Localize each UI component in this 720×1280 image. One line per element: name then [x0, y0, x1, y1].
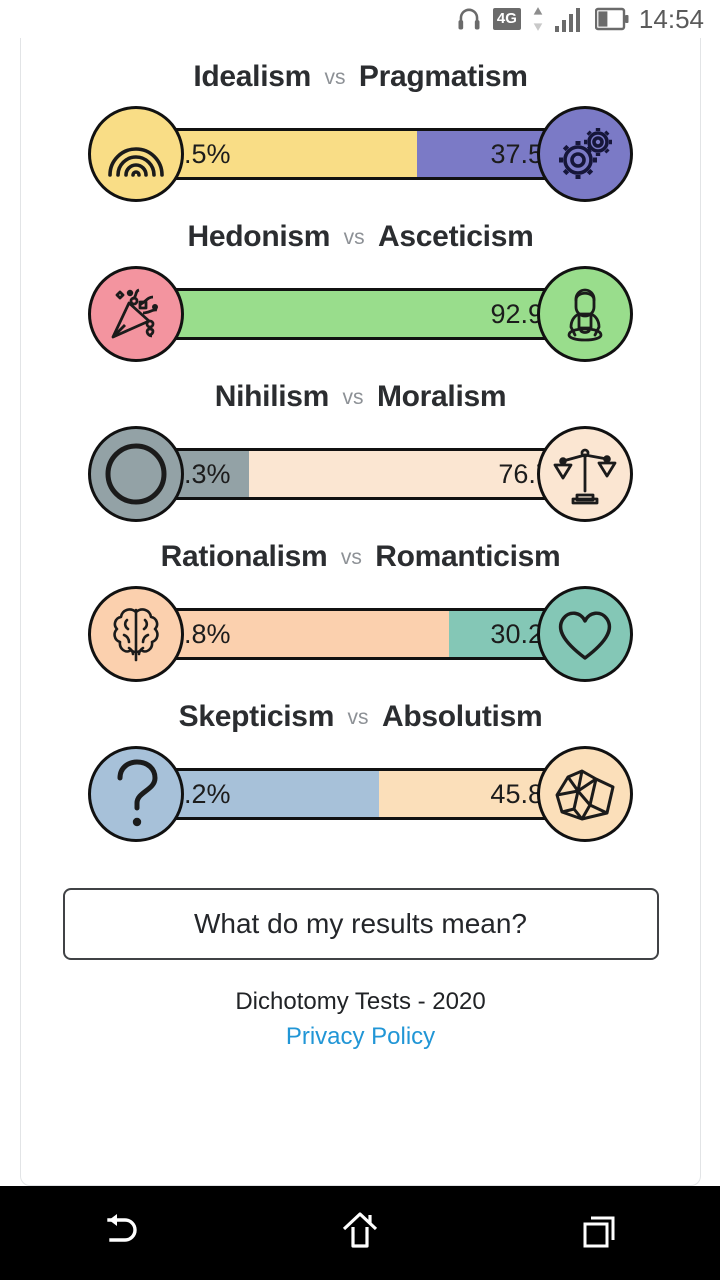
trait-vs-label: vs [333, 386, 372, 409]
scales-icon [553, 443, 617, 505]
recents-button[interactable] [540, 1186, 660, 1280]
trait-row-rationalism-romanticism: Rationalism vs Romanticism 69.8% 30.2% [21, 530, 700, 690]
copyright-text: Dichotomy Tests - 2020 [21, 988, 700, 1016]
trait-bar: 23.3% 76.7% [136, 448, 585, 500]
what-do-my-results-mean-button[interactable]: What do my results mean? [63, 888, 659, 960]
trait-title: Idealism vs Pragmatism [21, 50, 700, 94]
trait-right-icon-circle [537, 266, 633, 362]
headphones-icon [455, 5, 483, 33]
rock-icon [552, 765, 618, 823]
trait-bar: 54.2% 45.8% [136, 768, 585, 820]
trait-bar: 69.8% 30.2% [136, 608, 585, 660]
trait-left-icon-circle [88, 106, 184, 202]
trait-bar-wrap: 23.3% 76.7% [88, 426, 633, 522]
void-circle-icon [99, 437, 173, 511]
trait-bar-wrap: 62.5% 37.5% [88, 106, 633, 202]
android-navigation-bar [0, 1186, 720, 1280]
trait-right-label: Pragmatism [359, 60, 528, 93]
trait-bar-wrap: 54.2% 45.8% [88, 746, 633, 842]
results-card: Idealism vs Pragmatism 62.5% 37.5% [20, 38, 701, 1186]
network-type-label: 4G [493, 8, 521, 30]
trait-vs-label: vs [315, 66, 354, 89]
status-bar: 4G 14:54 [0, 0, 720, 38]
trait-right-icon-circle [537, 426, 633, 522]
trait-left-icon-circle [88, 746, 184, 842]
clock: 14:54 [639, 4, 704, 35]
home-button[interactable] [300, 1186, 420, 1280]
trait-right-label: Absolutism [382, 700, 542, 733]
trait-left-label: Nihilism [215, 380, 329, 413]
rainbow-icon [105, 129, 167, 179]
trait-right-icon-circle [537, 746, 633, 842]
trait-left-icon-circle [88, 266, 184, 362]
party-popper-icon [105, 283, 167, 345]
trait-left-icon-circle [88, 426, 184, 522]
trait-title: Rationalism vs Romanticism [21, 530, 700, 574]
trait-bar-wrap: 7.1% 92.9% [88, 266, 633, 362]
gears-icon [553, 122, 617, 186]
trait-left-label: Rationalism [161, 540, 328, 573]
results-list: Idealism vs Pragmatism 62.5% 37.5% [21, 38, 700, 1051]
trait-bar-wrap: 69.8% 30.2% [88, 586, 633, 682]
trait-vs-label: vs [335, 226, 374, 249]
battery-icon [595, 7, 629, 31]
trait-left-label: Skepticism [179, 700, 334, 733]
trait-row-nihilism-moralism: Nihilism vs Moralism 23.3% 76.7% [21, 370, 700, 530]
privacy-policy-link[interactable]: Privacy Policy [21, 1023, 700, 1051]
trait-right-label: Asceticism [378, 220, 533, 253]
trait-row-idealism-pragmatism: Idealism vs Pragmatism 62.5% 37.5% [21, 50, 700, 210]
trait-vs-label: vs [332, 546, 371, 569]
trait-row-skepticism-absolutism: Skepticism vs Absolutism 54.2% 45.8% [21, 690, 700, 850]
back-icon [97, 1208, 143, 1259]
brain-icon [105, 602, 167, 666]
trait-left-label: Idealism [193, 60, 311, 93]
trait-right-label: Moralism [377, 380, 506, 413]
question-mark-icon [112, 759, 160, 829]
trait-right-icon-circle [537, 106, 633, 202]
trait-left-icon-circle [88, 586, 184, 682]
signal-bars-icon [555, 6, 585, 32]
trait-bar-right-segment: 92.9% [136, 291, 585, 337]
trait-title: Skepticism vs Absolutism [21, 690, 700, 734]
trait-title: Nihilism vs Moralism [21, 370, 700, 414]
recents-icon [577, 1208, 623, 1259]
heart-icon [553, 604, 617, 664]
trait-row-hedonism-asceticism: Hedonism vs Asceticism 7.1% 92.9% [21, 210, 700, 370]
back-button[interactable] [60, 1186, 180, 1280]
meditation-icon [555, 283, 615, 345]
trait-bar: 62.5% 37.5% [136, 128, 585, 180]
trait-vs-label: vs [339, 706, 378, 729]
trait-title: Hedonism vs Asceticism [21, 210, 700, 254]
trait-bar-right-segment: 76.7% [249, 451, 585, 497]
trait-right-icon-circle [537, 586, 633, 682]
trait-left-label: Hedonism [188, 220, 331, 253]
trait-bar: 7.1% 92.9% [136, 288, 585, 340]
data-transfer-icon [531, 6, 545, 32]
trait-right-label: Romanticism [375, 540, 560, 573]
home-icon [337, 1208, 383, 1259]
